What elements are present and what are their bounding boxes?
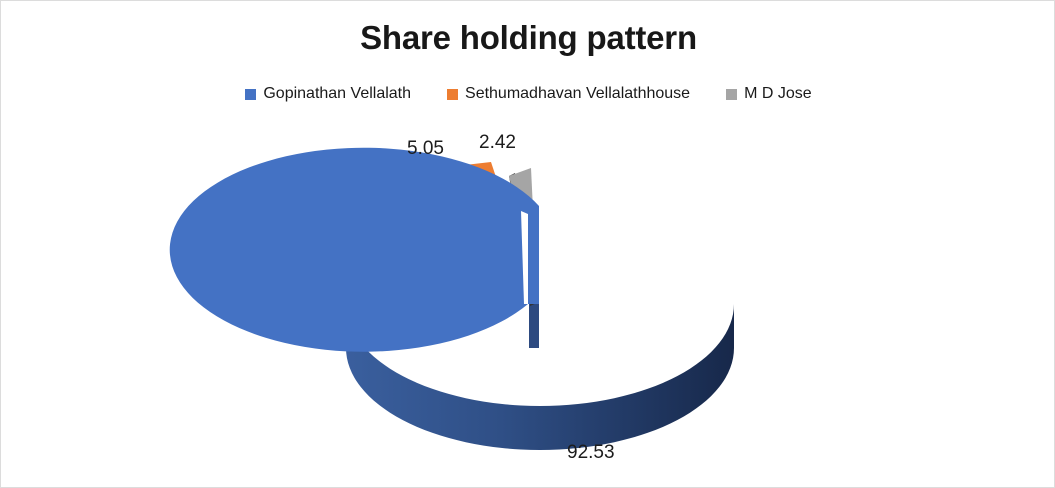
chart-container: Share holding pattern Gopinathan Vellala… xyxy=(0,0,1055,488)
data-label-sethumadhavan-vellalathhouse: 5.05 xyxy=(407,138,444,160)
data-label-gopinathan-vellalath: 92.53 xyxy=(567,442,615,464)
pie-slice-gopinathan-vellalath[interactable] xyxy=(170,148,539,352)
pie-plot-area xyxy=(1,1,1055,488)
data-label-m-d-jose: 2.42 xyxy=(479,132,516,154)
